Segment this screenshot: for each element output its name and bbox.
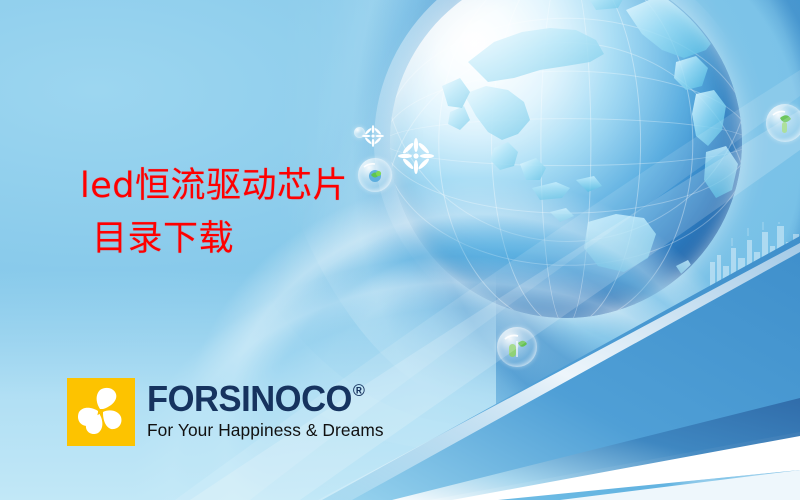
bubble-corner xyxy=(766,104,800,142)
headline-line-2: 目录下载 xyxy=(80,213,348,266)
brand-name: FORSINOCO ® xyxy=(147,381,377,417)
banner-image: led恒流驱动芯片目录下载 FORSINOCO ® For Your Happi… xyxy=(0,0,800,500)
page-title: led恒流驱动芯片目录下载 xyxy=(80,160,348,266)
brand-tagline: For Your Happiness & Dreams xyxy=(147,420,384,440)
bubble-with-globe xyxy=(358,158,392,192)
bubble-with-sprout xyxy=(497,327,537,367)
headline-line-1: led恒流驱动芯片 xyxy=(80,166,348,206)
bubble-tiny xyxy=(354,127,365,138)
brand-wordmark: FORSINOCO xyxy=(147,381,352,417)
brand-logo[interactable]: FORSINOCO ® For Your Happiness & Dreams xyxy=(67,378,386,446)
registered-trademark-icon: ® xyxy=(353,382,365,399)
logo-text-block: FORSINOCO ® For Your Happiness & Dreams xyxy=(147,378,386,440)
four-petal-pinwheel-icon xyxy=(67,378,135,446)
